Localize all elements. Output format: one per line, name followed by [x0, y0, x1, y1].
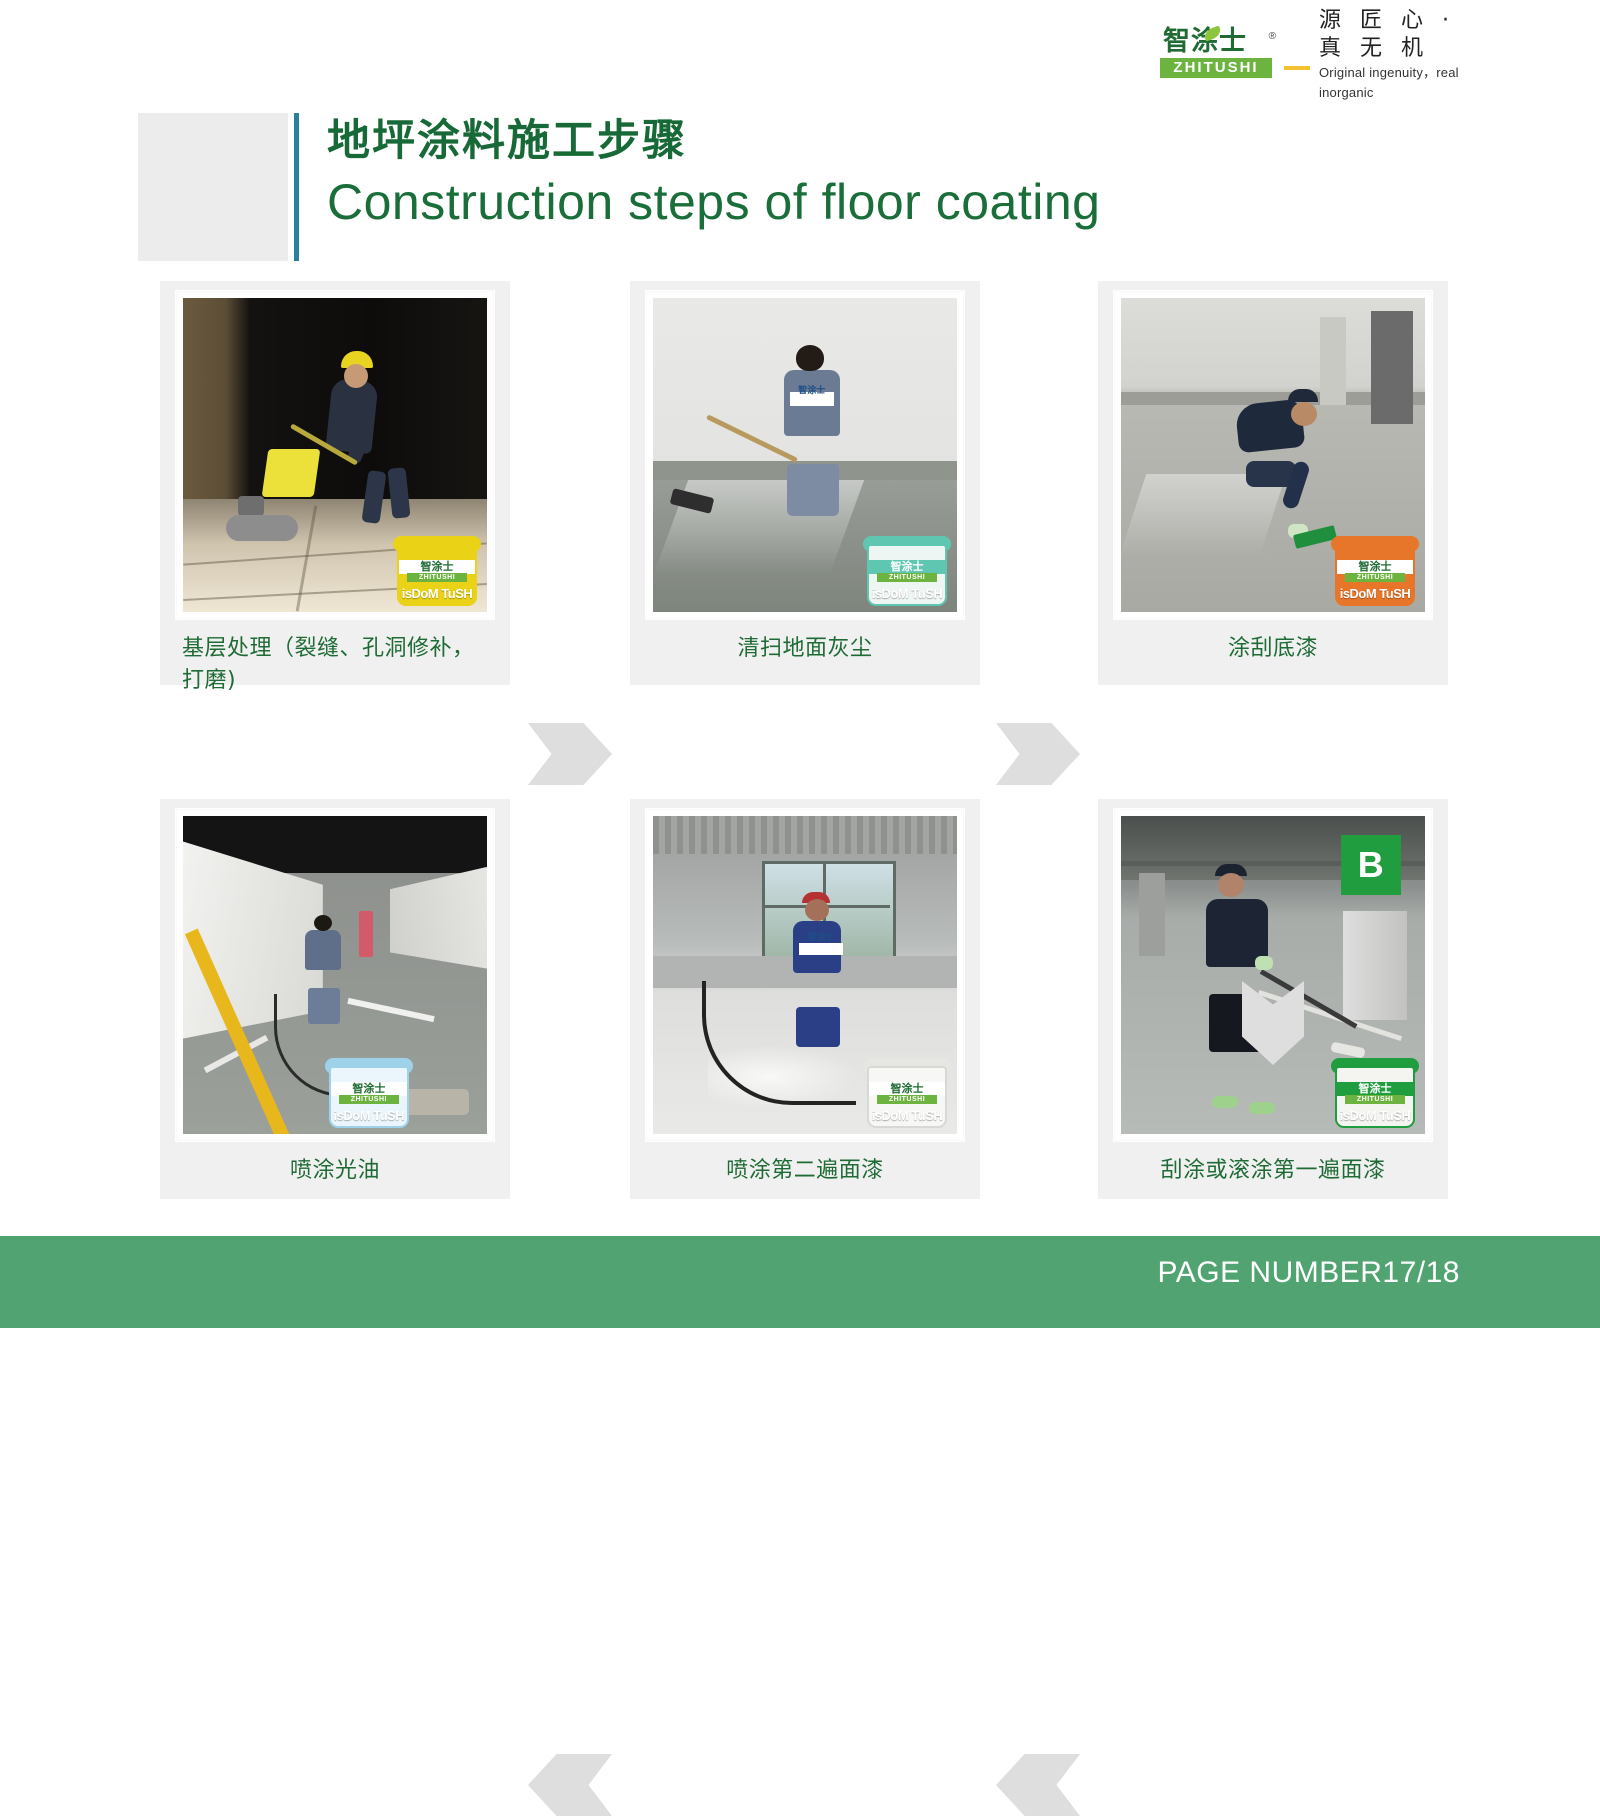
step-caption-1: 基层处理（裂缝、孔洞修补，打磨) — [160, 619, 510, 697]
arrow-step5-to-step6 — [528, 1754, 612, 1816]
logo-divider-dash — [1284, 66, 1310, 70]
product-bucket-5: 智涂士 ZHITUSHI isDoM TuSH — [861, 1052, 953, 1132]
brand-slogan: 源 匠 心 · 真 无 机 Original ingenuity，real in… — [1319, 7, 1490, 103]
bucket-label-en-3: ZHITUSHI — [1345, 573, 1405, 582]
bucket-label-cn-5: 智涂士 — [871, 1082, 943, 1095]
bucket-label-cn-6: 智涂士 — [333, 1082, 405, 1095]
arrow-step1-to-step2 — [528, 723, 612, 785]
bucket-label-cn-1: 智涂士 — [401, 560, 473, 573]
page-title-chinese: 地坪涂料施工步骤 — [327, 113, 1100, 169]
slogan-chinese: 源 匠 心 · 真 无 机 — [1319, 7, 1490, 63]
step-card-5[interactable]: 智涂士 智涂士 ZHITUSHI isDoM TuSH 喷涂第二遍面漆 — [630, 799, 980, 1199]
step-caption-3: 涂刮底漆 — [1098, 619, 1448, 665]
step-caption-6: 喷涂光油 — [160, 1141, 510, 1187]
product-bucket-4: 智涂士 ZHITUSHI isDoM TuSH — [1329, 1052, 1421, 1132]
product-bucket-6: 智涂士 ZHITUSHI isDoM TuSH — [323, 1052, 415, 1132]
bucket-wordmark-1: isDoM TuSH — [391, 586, 483, 601]
title-decor-block — [138, 113, 288, 261]
page-title-english: Construction steps of floor coating — [327, 169, 1100, 235]
bucket-label-en-5: ZHITUSHI — [877, 1095, 937, 1104]
bucket-label-en-1: ZHITUSHI — [407, 573, 467, 582]
product-bucket-2: 智涂士 ZHITUSHI isDoM TuSH — [861, 530, 953, 610]
steps-grid: 智涂士 ZHITUSHI isDoM TuSH 基层处理（裂缝、孔洞修补，打磨) — [0, 281, 1600, 1203]
title-accent-rule — [294, 113, 299, 261]
bucket-label-en-4: ZHITUSHI — [1345, 1095, 1405, 1104]
arrow-step4-to-step5 — [996, 1754, 1080, 1816]
uniform-logo-text-2: 智涂士 — [790, 383, 834, 396]
step-card-2[interactable]: 智涂士 智涂士 ZHITUSHI isDoM TuSH 清扫地面灰尘 — [630, 281, 980, 685]
bucket-label-cn-2: 智涂士 — [871, 560, 943, 573]
zhitushi-logo: 智涂士 ® ZHITUSHI — [1160, 27, 1278, 83]
step-photo-frame-1: 智涂士 ZHITUSHI isDoM TuSH — [176, 291, 494, 619]
logo-latin-wordmark: ZHITUSHI — [1160, 58, 1272, 78]
bucket-wordmark-6: isDoM TuSH — [323, 1108, 415, 1123]
bucket-wordmark-3: isDoM TuSH — [1329, 586, 1421, 601]
page-footer: PAGE NUMBER17/18 — [0, 1236, 1600, 1328]
arrow-step2-to-step3 — [996, 723, 1080, 785]
step-caption-4: 刮涂或滚涂第一遍面漆 — [1098, 1141, 1448, 1187]
step-photo-frame-5: 智涂士 智涂士 ZHITUSHI isDoM TuSH — [646, 809, 964, 1141]
uniform-logo-text-5: 智涂士 — [799, 930, 843, 943]
step-caption-5: 喷涂第二遍面漆 — [630, 1141, 980, 1187]
bucket-label-en-6: ZHITUSHI — [339, 1095, 399, 1104]
step-photo-frame-6: 智涂士 ZHITUSHI isDoM TuSH — [176, 809, 494, 1141]
page-title-group: 地坪涂料施工步骤 Construction steps of floor coa… — [138, 113, 1100, 261]
bucket-label-cn-3: 智涂士 — [1339, 560, 1411, 573]
garage-zone-sign-b: B — [1341, 835, 1401, 895]
brand-header: 智涂士 ® ZHITUSHI 源 匠 心 · 真 无 机 Original in… — [1160, 24, 1490, 86]
bucket-wordmark-2: isDoM TuSH — [861, 586, 953, 601]
registered-trademark-icon: ® — [1269, 31, 1276, 42]
step-card-6[interactable]: 智涂士 ZHITUSHI isDoM TuSH 喷涂光油 — [160, 799, 510, 1199]
step-card-1[interactable]: 智涂士 ZHITUSHI isDoM TuSH 基层处理（裂缝、孔洞修补，打磨) — [160, 281, 510, 685]
product-bucket-3: 智涂士 ZHITUSHI isDoM TuSH — [1329, 530, 1421, 610]
steps-row-top: 智涂士 ZHITUSHI isDoM TuSH 基层处理（裂缝、孔洞修补，打磨) — [0, 281, 1600, 685]
page-number-label: PAGE NUMBER17/18 — [1157, 1256, 1460, 1290]
steps-row-bottom: 智涂士 ZHITUSHI isDoM TuSH 喷涂光油 — [0, 799, 1600, 1203]
bucket-wordmark-4: isDoM TuSH — [1329, 1108, 1421, 1123]
bucket-label-cn-4: 智涂士 — [1339, 1082, 1411, 1095]
step-photo-frame-3: 智涂士 ZHITUSHI isDoM TuSH — [1114, 291, 1432, 619]
step-photo-frame-4: B — [1114, 809, 1432, 1141]
step-caption-2: 清扫地面灰尘 — [630, 619, 980, 665]
product-bucket-1: 智涂士 ZHITUSHI isDoM TuSH — [391, 530, 483, 610]
bucket-label-en-2: ZHITUSHI — [877, 573, 937, 582]
bucket-wordmark-5: isDoM TuSH — [861, 1108, 953, 1123]
slogan-english: Original ingenuity，real inorganic — [1319, 63, 1490, 103]
step-card-4[interactable]: B — [1098, 799, 1448, 1199]
step-card-3[interactable]: 智涂士 ZHITUSHI isDoM TuSH 涂刮底漆 — [1098, 281, 1448, 685]
step-photo-frame-2: 智涂士 智涂士 ZHITUSHI isDoM TuSH — [646, 291, 964, 619]
